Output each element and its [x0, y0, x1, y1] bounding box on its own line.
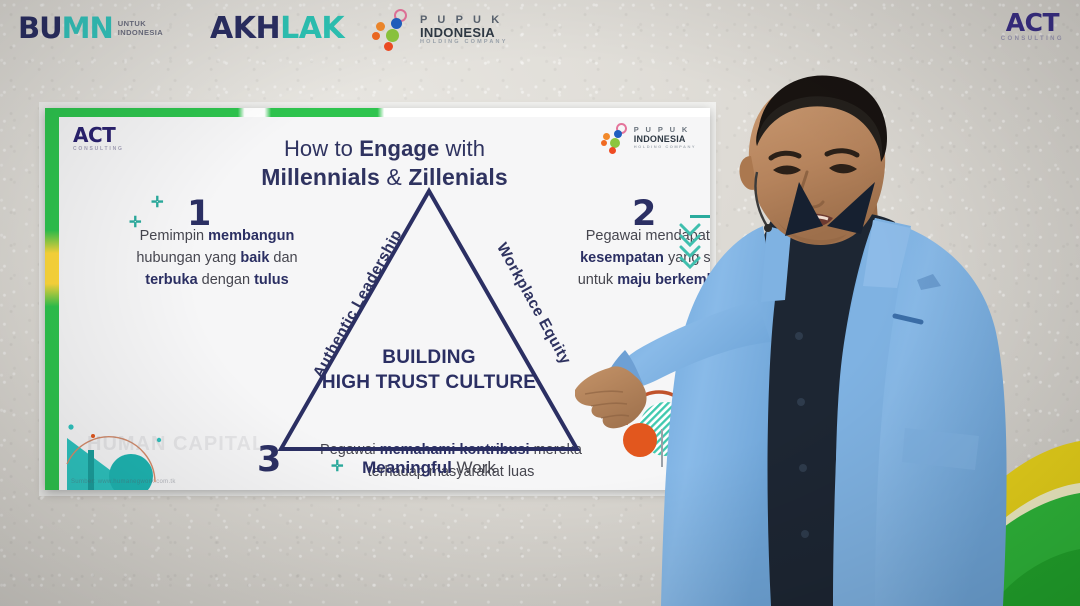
triangle-base-label: Meaningful Work [269, 459, 589, 476]
logo-act-consulting-top: ACT CONSULTING [1001, 10, 1064, 42]
act-top-name: ACT [1001, 10, 1064, 35]
akhlak-part2: LAK [280, 11, 344, 46]
bumn-sub-line2: INDONESIA [118, 29, 163, 37]
slide-watermark: HUMAN CAPITAL [87, 433, 265, 456]
trust-triangle-diagram: Authentic Leadership Workplace Equity BU… [269, 177, 589, 477]
pupuk-line3: HOLDING COMPANY [420, 40, 508, 46]
presenter-figure [575, 50, 1080, 606]
logo-pupuk-indonesia: P U P U K INDONESIA HOLDING COMPANY [372, 8, 508, 52]
bumn-mark-part1: BU [18, 11, 62, 45]
triangle-center-text: BUILDING HIGH TRUST CULTURE [269, 345, 589, 395]
logo-akhlak: AKHLAK [210, 14, 344, 44]
screenshot-stage: BUMN UNTUK INDONESIA AKHLAK P U P U [0, 0, 1080, 606]
logo-bumn: BUMN UNTUK INDONESIA [18, 14, 163, 43]
title-l1-a: How to [284, 136, 359, 161]
title-l1-b: Engage [359, 136, 439, 161]
triangle-base-rest: Work [452, 458, 496, 477]
triangle-center-line1: BUILDING [269, 345, 589, 370]
akhlak-part1: AKH [210, 11, 280, 46]
slide-watermark-url: Sumber: www.humanegwork.com.tk [71, 479, 176, 485]
act-top-subtitle: CONSULTING [1001, 36, 1064, 42]
board-left-green-border [45, 108, 59, 490]
pupuk-molecule-icon [372, 8, 416, 52]
title-l1-c: with [439, 136, 485, 161]
pupuk-line2: INDONESIA [420, 26, 508, 40]
bumn-mark-part2: MN [62, 11, 113, 45]
plus-decoration-icon: ✛ [151, 195, 164, 210]
triangle-base-bold: Meaningful [362, 458, 452, 477]
triangle-center-line2: HIGH TRUST CULTURE [269, 370, 589, 395]
